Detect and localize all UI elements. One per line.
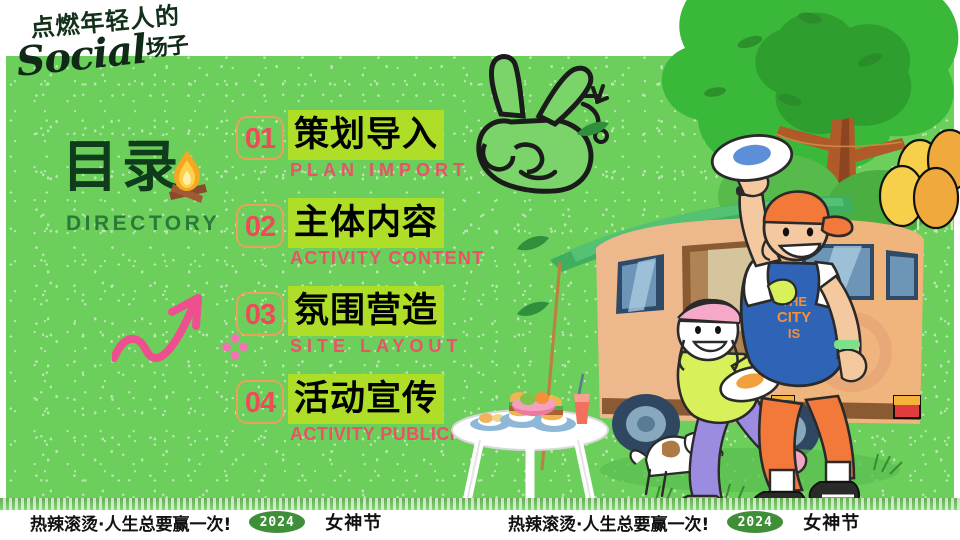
footer-slogan-2: 热辣滚烫·人生总要赢一次! [508, 510, 709, 535]
menu-number-badge-02: 02 [236, 204, 284, 248]
slide-canvas: 点燃年轻人的 Social场子 目录 DIRECTORY 01 [0, 0, 960, 540]
footer-banner: 热辣滚烫·人生总要赢一次! 2024 女神节 热辣滚烫·人生总要赢一次! 202… [0, 498, 960, 540]
footer-festival-2: 女神节 [803, 509, 860, 535]
menu-title-cn-02: 主体内容 [294, 206, 438, 241]
campfire-icon [159, 148, 215, 210]
svg-text:IS: IS [788, 326, 801, 341]
curved-arrow-icon [112, 282, 222, 364]
logo-script-cn: 场子 [145, 33, 189, 62]
footer-unit-1: 热辣滚烫·人生总要赢一次! 2024 女神节 [30, 509, 382, 535]
footer-year-badge-1: 2024 [249, 511, 305, 533]
picnic-table-icon [452, 374, 608, 508]
menu-title-en-03: SITE LAYOUT [290, 336, 462, 357]
footer-unit-2: 热辣滚烫·人生总要赢一次! 2024 女神节 [508, 509, 860, 535]
footer-slogan-1: 热辣滚烫·人生总要赢一次! [30, 510, 231, 535]
leaf-icon [576, 120, 610, 140]
menu-title-bar-02: 主体内容 [288, 198, 444, 248]
menu-title-en-01: PLAN IMPORT [290, 160, 469, 181]
menu-number-badge-03: 03 [236, 292, 284, 336]
menu-number-01: 01 [238, 123, 282, 156]
page-subtitle: DIRECTORY [66, 212, 220, 236]
brand-logo: 点燃年轻人的 Social场子 [14, 2, 244, 90]
menu-number-badge-01: 01 [236, 116, 284, 160]
footer-festival-1: 女神节 [325, 509, 382, 535]
leaf-icon [516, 232, 550, 252]
menu-title-bar-04: 活动宣传 [288, 374, 444, 424]
menu-title-cn-01: 策划导入 [294, 118, 438, 153]
leaf-icon [516, 300, 550, 320]
menu-title-cn-03: 氛围营造 [294, 294, 438, 329]
menu-number-02: 02 [238, 211, 282, 244]
menu-title-bar-01: 策划导入 [288, 110, 444, 160]
directory-heading: 目录 DIRECTORY [56, 140, 256, 250]
menu-number-03: 03 [238, 299, 282, 332]
menu-number-badge-04: 04 [236, 380, 284, 424]
menu-title-cn-04: 活动宣传 [294, 382, 438, 417]
svg-text:CITY: CITY [777, 309, 811, 326]
menu-title-bar-03: 氛围营造 [288, 286, 444, 336]
footer-year-badge-2: 2024 [727, 511, 783, 533]
menu-number-04: 04 [238, 387, 282, 420]
